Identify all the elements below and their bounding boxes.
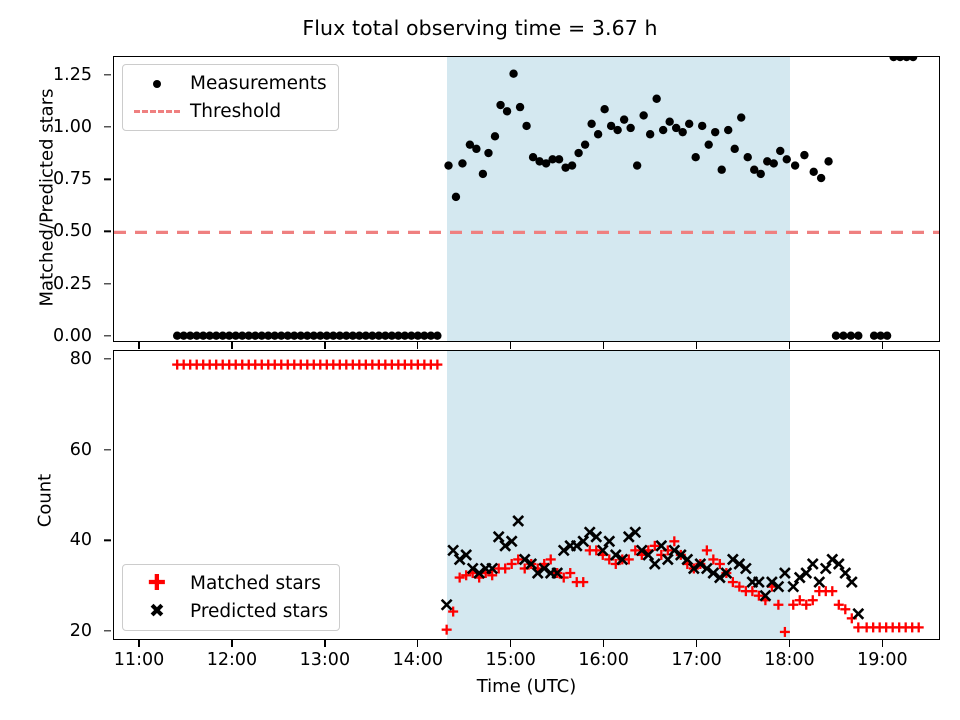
data-point xyxy=(758,591,760,601)
data-point xyxy=(498,564,500,574)
legend-entry-measurements: Measurements xyxy=(132,71,327,96)
data-point xyxy=(905,622,907,632)
legend-entry-predicted-stars: ✖ Predicted stars xyxy=(132,599,328,624)
data-point xyxy=(423,360,425,370)
data-point xyxy=(235,360,237,370)
legend-top: Measurements Threshold xyxy=(122,64,339,131)
data-point xyxy=(738,582,740,592)
data-point xyxy=(745,586,747,596)
data-point xyxy=(550,554,552,564)
data-point xyxy=(491,570,493,580)
x-tick-label: 17:00 xyxy=(671,650,721,670)
data-point xyxy=(484,149,492,157)
data-point xyxy=(433,331,441,339)
x-tick-mark xyxy=(417,640,418,647)
data-point xyxy=(885,622,887,632)
data-point xyxy=(568,161,576,169)
star-count-panel: ✚ Matched stars ✖ Predicted stars xyxy=(113,350,940,640)
data-point xyxy=(595,545,597,555)
data-point xyxy=(634,545,636,555)
y-tick-label: 60 xyxy=(70,440,92,460)
data-point xyxy=(452,193,460,201)
data-point xyxy=(608,554,610,564)
data-point xyxy=(397,360,399,370)
x-tick-label: 16:00 xyxy=(578,650,628,670)
data-point xyxy=(196,360,198,370)
data-point xyxy=(685,120,693,128)
data-point xyxy=(783,155,791,163)
data-point xyxy=(587,120,595,128)
y-tick-label: 20 xyxy=(70,621,92,641)
data-point xyxy=(667,545,669,555)
data-point xyxy=(430,360,432,370)
data-point xyxy=(371,360,373,370)
y-tick-mark xyxy=(104,231,111,232)
data-point xyxy=(620,115,628,123)
data-point xyxy=(589,545,591,555)
x-tick-mark xyxy=(510,342,511,349)
data-point xyxy=(777,600,779,610)
plus-marker-icon: ✚ xyxy=(132,573,182,595)
data-point xyxy=(267,360,269,370)
data-point xyxy=(791,161,799,169)
y-tick-mark xyxy=(104,283,111,284)
data-point xyxy=(808,559,818,569)
data-point xyxy=(784,627,786,637)
data-point xyxy=(446,625,448,635)
data-point xyxy=(770,159,778,167)
y-tick-mark xyxy=(104,449,111,450)
y-tick-label: 0.75 xyxy=(53,169,92,189)
x-tick-mark xyxy=(138,342,139,349)
data-point xyxy=(452,607,454,617)
x-tick-mark xyxy=(696,640,697,647)
data-point xyxy=(854,331,862,339)
x-tick-label: 14:00 xyxy=(393,650,443,670)
data-point xyxy=(817,174,825,182)
data-point xyxy=(581,140,589,148)
data-point xyxy=(503,107,511,115)
y-tick-mark xyxy=(104,358,111,359)
dot-marker-icon xyxy=(132,80,182,88)
data-point xyxy=(404,360,406,370)
cross-marker-icon: ✖ xyxy=(132,602,182,621)
y-tick-label: 1.25 xyxy=(53,65,92,85)
data-point xyxy=(626,124,634,132)
data-point xyxy=(332,360,334,370)
data-point xyxy=(818,586,820,596)
data-point xyxy=(918,622,920,632)
data-point xyxy=(639,111,647,119)
data-point xyxy=(866,622,868,632)
data-point xyxy=(465,570,467,580)
data-point xyxy=(410,360,412,370)
data-point xyxy=(628,554,630,564)
data-point xyxy=(800,151,808,159)
flux-ratio-panel: Measurements Threshold xyxy=(113,56,940,342)
x-tick-label: 12:00 xyxy=(207,650,257,670)
data-point xyxy=(821,564,831,574)
x-tick-mark xyxy=(231,342,232,349)
data-point xyxy=(509,70,517,78)
data-point xyxy=(287,360,289,370)
data-point xyxy=(524,564,526,574)
data-point xyxy=(594,130,602,138)
x-tick-mark xyxy=(696,342,697,349)
data-point xyxy=(831,586,833,596)
chart-root: Flux total observing time = 3.67 h 0.000… xyxy=(0,0,960,720)
x-tick-mark xyxy=(882,640,883,647)
data-point xyxy=(719,559,721,569)
y-tick-label: 0.25 xyxy=(53,274,92,294)
data-point xyxy=(805,600,807,610)
data-point xyxy=(274,360,276,370)
data-point xyxy=(436,360,438,370)
data-point xyxy=(176,360,178,370)
y-tick-mark xyxy=(104,335,111,336)
data-point xyxy=(737,113,745,121)
data-point xyxy=(293,360,295,370)
data-point xyxy=(673,536,675,546)
data-point xyxy=(780,568,790,578)
y-tick-mark xyxy=(104,178,111,179)
data-point xyxy=(215,360,217,370)
x-tick-label: 15:00 xyxy=(485,650,535,670)
data-point xyxy=(832,331,840,339)
data-point xyxy=(228,360,230,370)
page-title: Flux total observing time = 3.67 h xyxy=(0,16,960,40)
data-point xyxy=(776,147,784,155)
data-point xyxy=(319,360,321,370)
x-tick-mark xyxy=(324,640,325,647)
y-tick-mark xyxy=(104,540,111,541)
data-point xyxy=(851,613,853,623)
y-tick-mark xyxy=(104,126,111,127)
data-point xyxy=(872,622,874,632)
data-point xyxy=(458,159,466,167)
data-point xyxy=(879,622,881,632)
y-tick-label: 40 xyxy=(70,530,92,550)
data-point xyxy=(809,168,817,176)
data-point xyxy=(365,360,367,370)
data-point xyxy=(511,559,513,569)
data-point xyxy=(576,577,578,587)
x-tick-mark xyxy=(882,342,883,349)
data-point xyxy=(516,103,524,111)
data-point xyxy=(788,582,798,592)
x-tick-label: 18:00 xyxy=(764,650,814,670)
data-point xyxy=(659,126,667,134)
dashed-line-marker-icon xyxy=(132,110,182,113)
data-point xyxy=(254,360,256,370)
data-point xyxy=(911,622,913,632)
data-point xyxy=(513,516,523,526)
x-tick-mark xyxy=(603,640,604,647)
data-point xyxy=(442,600,452,610)
data-point xyxy=(183,360,185,370)
data-point xyxy=(479,170,487,178)
data-point xyxy=(222,360,224,370)
data-point xyxy=(339,360,341,370)
data-point xyxy=(326,360,328,370)
data-point xyxy=(391,360,393,370)
y-tick-mark xyxy=(104,630,111,631)
data-point xyxy=(799,595,801,605)
legend-label-threshold: Threshold xyxy=(182,101,281,122)
data-point xyxy=(555,155,563,163)
data-point xyxy=(280,360,282,370)
data-point xyxy=(825,586,827,596)
data-point xyxy=(300,360,302,370)
data-point xyxy=(494,532,504,542)
data-point xyxy=(812,595,814,605)
data-point xyxy=(663,554,673,564)
data-point xyxy=(840,568,850,578)
x-tick-mark xyxy=(324,342,325,349)
legend-label-measurements: Measurements xyxy=(182,73,327,94)
data-point xyxy=(517,554,519,564)
data-point xyxy=(448,545,458,555)
data-point xyxy=(698,122,706,130)
y-tick-label: 80 xyxy=(70,349,92,369)
data-point xyxy=(613,126,621,134)
legend-bottom: ✚ Matched stars ✖ Predicted stars xyxy=(122,564,340,631)
data-point xyxy=(378,360,380,370)
data-point xyxy=(472,145,480,153)
data-point xyxy=(838,600,840,610)
data-point xyxy=(665,118,673,126)
x-tick-mark xyxy=(789,342,790,349)
data-point xyxy=(444,161,452,169)
data-point xyxy=(654,541,656,551)
legend-label-matched-stars: Matched stars xyxy=(182,573,321,594)
data-point xyxy=(202,360,204,370)
data-point xyxy=(892,622,894,632)
data-point xyxy=(898,622,900,632)
data-point xyxy=(352,360,354,370)
data-point xyxy=(883,331,891,339)
data-point xyxy=(724,126,732,134)
y-tick-label: 0.50 xyxy=(53,221,92,241)
y-tick-label: 0.00 xyxy=(53,326,92,346)
data-point xyxy=(792,600,794,610)
data-point xyxy=(678,128,686,136)
data-point xyxy=(459,573,461,583)
data-point xyxy=(847,577,857,587)
data-point xyxy=(313,360,315,370)
data-point xyxy=(757,170,765,178)
legend-label-predicted-stars: Predicted stars xyxy=(182,601,328,622)
data-point xyxy=(718,166,726,174)
data-point xyxy=(569,568,571,578)
data-point xyxy=(248,360,250,370)
data-point xyxy=(604,536,614,546)
data-point xyxy=(646,130,654,138)
legend-entry-threshold: Threshold xyxy=(132,99,327,124)
x-axis-label: Time (UTC) xyxy=(113,676,940,697)
data-point xyxy=(731,145,739,153)
data-point xyxy=(615,559,617,569)
data-point xyxy=(306,360,308,370)
data-point xyxy=(751,586,753,596)
data-point xyxy=(706,545,708,555)
x-tick-mark xyxy=(138,640,139,647)
x-tick-label: 11:00 xyxy=(114,650,164,670)
x-tick-mark xyxy=(510,640,511,647)
data-point xyxy=(844,604,846,614)
x-tick-mark xyxy=(603,342,604,349)
data-point xyxy=(417,360,419,370)
y-tick-label: 1.00 xyxy=(53,117,92,137)
data-point xyxy=(241,360,243,370)
data-point xyxy=(522,122,530,130)
y-axis-label-top: Matched/Predicted stars xyxy=(37,55,58,341)
legend-entry-matched-stars: ✚ Matched stars xyxy=(132,571,328,596)
data-point xyxy=(839,331,847,339)
data-point xyxy=(857,622,859,632)
data-point xyxy=(633,161,641,169)
data-point xyxy=(814,577,824,587)
data-point xyxy=(711,128,719,136)
data-point xyxy=(732,577,734,587)
data-point xyxy=(847,331,855,339)
data-point xyxy=(358,360,360,370)
data-point xyxy=(491,132,499,140)
data-point xyxy=(496,101,504,109)
data-point xyxy=(712,554,714,564)
data-point xyxy=(345,360,347,370)
data-point xyxy=(853,609,863,619)
data-point xyxy=(652,95,660,103)
data-point xyxy=(384,360,386,370)
data-point xyxy=(824,157,832,165)
data-point xyxy=(691,153,699,161)
data-point xyxy=(704,140,712,148)
y-axis-label-bottom: Count xyxy=(35,356,56,646)
data-point xyxy=(574,149,582,157)
x-tick-label: 13:00 xyxy=(300,650,350,670)
data-point xyxy=(650,559,660,569)
data-point xyxy=(209,360,211,370)
data-point xyxy=(189,360,191,370)
x-tick-mark xyxy=(231,640,232,647)
x-tick-mark xyxy=(789,640,790,647)
x-tick-mark xyxy=(417,342,418,349)
data-point xyxy=(582,577,584,587)
data-point xyxy=(261,360,263,370)
data-point xyxy=(754,577,764,587)
data-point xyxy=(563,573,565,583)
y-tick-mark xyxy=(104,74,111,75)
data-point xyxy=(909,56,917,61)
data-point xyxy=(504,564,506,574)
data-point xyxy=(660,550,662,560)
x-tick-label: 19:00 xyxy=(857,650,907,670)
data-point xyxy=(600,105,608,113)
data-point xyxy=(744,153,752,161)
